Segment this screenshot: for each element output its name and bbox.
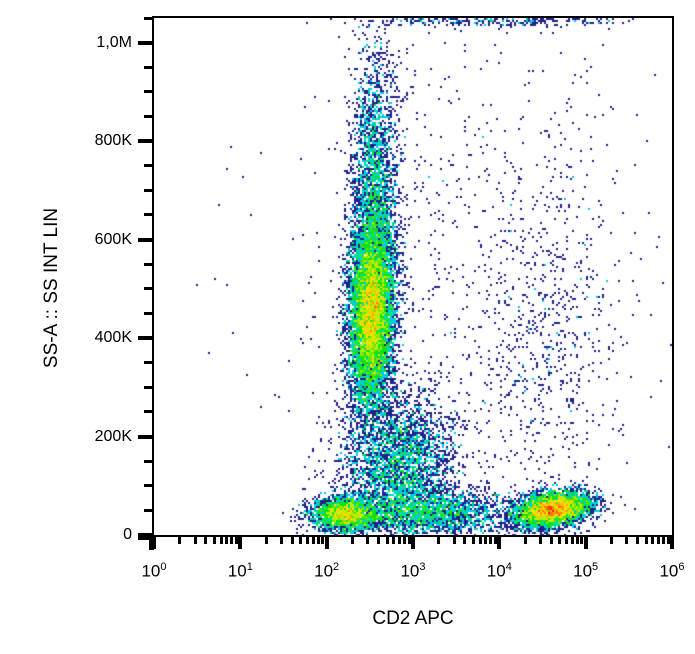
x-axis-minor-tick — [291, 536, 294, 544]
x-axis-minor-tick — [204, 536, 207, 544]
x-axis-minor-tick — [408, 536, 411, 544]
x-axis-tick-label: 104 — [487, 561, 512, 582]
x-axis-minor-tick — [312, 536, 315, 544]
x-axis-minor-tick — [571, 536, 574, 544]
x-axis-minor-tick — [299, 536, 302, 544]
x-axis-minor-tick — [484, 536, 487, 544]
x-tick-mantissa: 10 — [141, 562, 160, 581]
x-tick-mantissa: 10 — [228, 562, 247, 581]
x-axis-minor-tick — [472, 536, 475, 544]
y-axis-title: SS-A :: SS INT LIN — [41, 158, 63, 418]
flow-cytometry-plot: 0200K400K600K800K1,0M1001011021031041051… — [0, 0, 695, 654]
plot-area[interactable] — [152, 16, 674, 537]
x-axis-minor-tick — [539, 536, 542, 544]
x-axis-tick-label: 106 — [659, 561, 684, 582]
x-axis-minor-tick — [667, 536, 670, 544]
x-axis-major-tick — [411, 536, 415, 549]
x-axis-minor-tick — [580, 536, 583, 544]
x-axis-minor-tick — [306, 536, 309, 544]
x-axis-minor-tick — [351, 536, 354, 544]
x-axis-minor-tick — [178, 536, 181, 544]
x-axis-minor-tick — [636, 536, 639, 544]
x-axis-minor-tick — [377, 536, 380, 544]
scatter-density-canvas[interactable] — [154, 18, 672, 535]
x-axis-tick-label: 101 — [228, 561, 253, 582]
x-axis-minor-tick — [194, 536, 197, 544]
x-axis-minor-tick — [366, 536, 369, 544]
x-axis-minor-tick — [453, 536, 456, 544]
x-tick-mantissa: 10 — [487, 562, 506, 581]
x-tick-mantissa: 10 — [400, 562, 419, 581]
x-axis-minor-tick — [651, 536, 654, 544]
x-axis-minor-tick — [225, 536, 228, 544]
x-axis-minor-tick — [550, 536, 553, 544]
x-axis-minor-tick — [565, 536, 568, 544]
x-axis-minor-tick — [398, 536, 401, 544]
x-axis-minor-tick — [625, 536, 628, 544]
x-axis-minor-tick — [645, 536, 648, 544]
x-axis-minor-tick — [463, 536, 466, 544]
x-axis-minor-tick — [489, 536, 492, 544]
x-axis-minor-tick — [403, 536, 406, 544]
x-axis-minor-tick — [494, 536, 497, 544]
x-axis-major-tick — [497, 536, 501, 549]
x-axis-minor-tick — [437, 536, 440, 544]
axis-origin-corner-vertical — [149, 535, 154, 550]
x-tick-mantissa: 10 — [573, 562, 592, 581]
x-tick-exponent: 6 — [678, 561, 684, 573]
x-axis-minor-tick — [576, 536, 579, 544]
x-tick-mantissa: 10 — [314, 562, 333, 581]
x-axis-minor-tick — [280, 536, 283, 544]
x-axis-minor-tick — [662, 536, 665, 544]
x-axis-minor-tick — [386, 536, 389, 544]
x-axis-minor-tick — [479, 536, 482, 544]
y-axis-tick-label: 800K — [42, 132, 132, 150]
x-axis-tick-label: 103 — [400, 561, 425, 582]
x-axis-minor-tick — [392, 536, 395, 544]
x-axis-minor-tick — [558, 536, 561, 544]
x-tick-exponent: 1 — [247, 561, 253, 573]
y-axis-tick-label: 0 — [42, 526, 132, 544]
x-axis-minor-tick — [235, 536, 238, 544]
x-axis-minor-tick — [317, 536, 320, 544]
x-axis-major-tick — [325, 536, 329, 549]
y-axis-tick-label: 1,0M — [42, 34, 132, 52]
x-axis-minor-tick — [213, 536, 216, 544]
x-axis-tick-label: 102 — [314, 561, 339, 582]
x-axis-minor-tick — [610, 536, 613, 544]
x-axis-major-tick — [152, 536, 156, 549]
x-axis-major-tick — [670, 536, 674, 549]
x-axis-tick-label: 105 — [573, 561, 598, 582]
x-axis-minor-tick — [220, 536, 223, 544]
x-axis-minor-tick — [657, 536, 660, 544]
x-axis-minor-tick — [265, 536, 268, 544]
x-axis-major-tick — [238, 536, 242, 549]
x-axis-minor-tick — [321, 536, 324, 544]
x-tick-exponent: 0 — [160, 561, 166, 573]
y-axis-tick-label: 200K — [42, 428, 132, 446]
x-tick-exponent: 5 — [592, 561, 598, 573]
x-tick-mantissa: 10 — [659, 562, 678, 581]
x-axis-minor-tick — [230, 536, 233, 544]
x-tick-exponent: 4 — [506, 561, 512, 573]
x-tick-exponent: 3 — [419, 561, 425, 573]
x-axis-tick-label: 100 — [141, 561, 166, 582]
x-tick-exponent: 2 — [333, 561, 339, 573]
x-axis-title: CD2 APC — [152, 608, 674, 630]
x-axis-minor-tick — [524, 536, 527, 544]
x-axis-major-tick — [584, 536, 588, 549]
